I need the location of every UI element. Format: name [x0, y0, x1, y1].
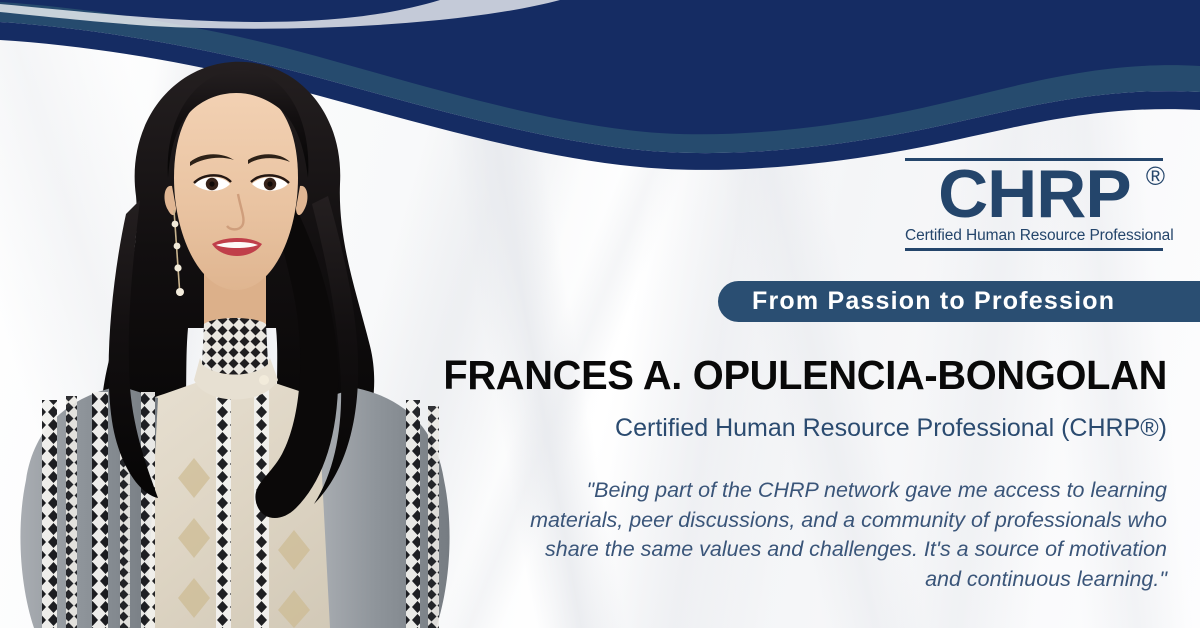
tagline-pill: From Passion to Profession	[718, 281, 1200, 322]
person-portrait	[8, 28, 458, 628]
tagline-pill-label: From Passion to Profession	[752, 287, 1115, 316]
person-name: FRANCES A. OPULENCIA-BONGOLAN	[35, 352, 1167, 399]
person-credential: Certified Human Resource Professional (C…	[0, 414, 1167, 443]
chrp-logo: CHRP ® Certified Human Resource Professi…	[905, 158, 1163, 251]
pupil-left	[209, 181, 214, 186]
registered-trademark-icon: ®	[1146, 165, 1165, 189]
logo-wordmark: CHRP	[938, 163, 1130, 226]
logo-wordmark-row: CHRP ®	[905, 163, 1163, 226]
pupil-right	[267, 181, 272, 186]
logo-rule-bottom	[905, 248, 1163, 251]
testimonial-banner: CHRP ® Certified Human Resource Professi…	[0, 0, 1200, 628]
testimonial-quote: "Being part of the CHRP network gave me …	[520, 476, 1167, 595]
